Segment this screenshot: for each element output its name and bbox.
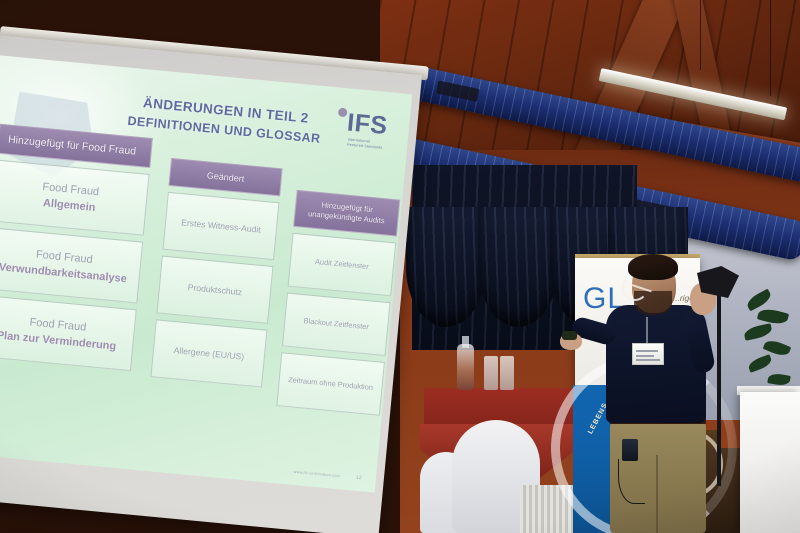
trouser-seam (656, 455, 658, 533)
table-cell: Erstes Witness-Audit (162, 192, 279, 260)
conference-photo-scene: ÄNDERUNGEN IN TEIL 2 DEFINITIONEN UND GL… (0, 0, 800, 533)
speaker-stand (717, 286, 721, 486)
table-cell: Zeitraum ohne Produktion (276, 352, 385, 416)
projection-screen: ÄNDERUNGEN IN TEIL 2 DEFINITIONEN UND GL… (0, 18, 438, 518)
belt-transmitter (622, 439, 638, 461)
drinking-glass (484, 356, 498, 390)
water-carafe (457, 344, 474, 390)
name-badge (632, 343, 664, 365)
slide-column-unangekuendigte-audits: Hinzugefügt für unangekündigte Audits Au… (276, 152, 403, 415)
ifs-logo: IFS International Featured Standards (332, 105, 398, 159)
presenter-clicker (562, 331, 577, 340)
slide-table: Hinzugefügt für Food Fraud Food Fraud Al… (0, 123, 398, 460)
presentation-slide: ÄNDERUNGEN IN TEIL 2 DEFINITIONEN UND GL… (0, 54, 412, 492)
light-wire (700, 0, 701, 70)
ifs-dot-icon (338, 108, 348, 118)
slide-footer: www.ifs-certification.com 12 (202, 460, 362, 481)
column-header: Hinzugefügt für unangekündigte Audits (293, 190, 400, 236)
cell-line-2: Verwundbarkeitsanalyse (0, 259, 127, 288)
ifs-wordmark: IFS (346, 110, 389, 139)
table-cell: Food Fraud Verwundbarkeitsanalyse (0, 227, 143, 303)
table-cell: Blackout Zeitfenster (282, 292, 391, 356)
table-cell: Food Fraud Allgemein (0, 160, 150, 236)
slide-column-food-fraud: Hinzugefügt für Food Fraud Food Fraud Al… (0, 124, 153, 372)
table-cell: Food Fraud Plan zur Verminderung (0, 295, 137, 371)
cell-line-2: Allgemein (40, 195, 98, 217)
badge-lanyard (646, 317, 648, 345)
slide-footer-url: www.ifs-certification.com (293, 470, 340, 478)
column-header: Geändert (169, 158, 283, 197)
table-cell: Audit Zeitfenster (288, 232, 397, 296)
table-cell: Allergene (EU/US) (150, 319, 267, 387)
cell-line-2: Plan zur Verminderung (0, 328, 117, 356)
presenter (560, 255, 760, 533)
slide-page-number: 12 (356, 475, 363, 482)
screen-surface: ÄNDERUNGEN IN TEIL 2 DEFINITIONEN UND GL… (0, 34, 422, 533)
light-wire (770, 0, 771, 96)
slide-column-geaendert: Geändert Erstes Witness-Audit Produktsch… (150, 140, 284, 388)
table-cell: Produktschutz (156, 256, 273, 324)
drinking-glass (500, 356, 514, 390)
potted-plant (742, 288, 800, 398)
lectern (740, 392, 800, 533)
ifs-logo-subtitle: International Featured Standards (347, 138, 383, 152)
